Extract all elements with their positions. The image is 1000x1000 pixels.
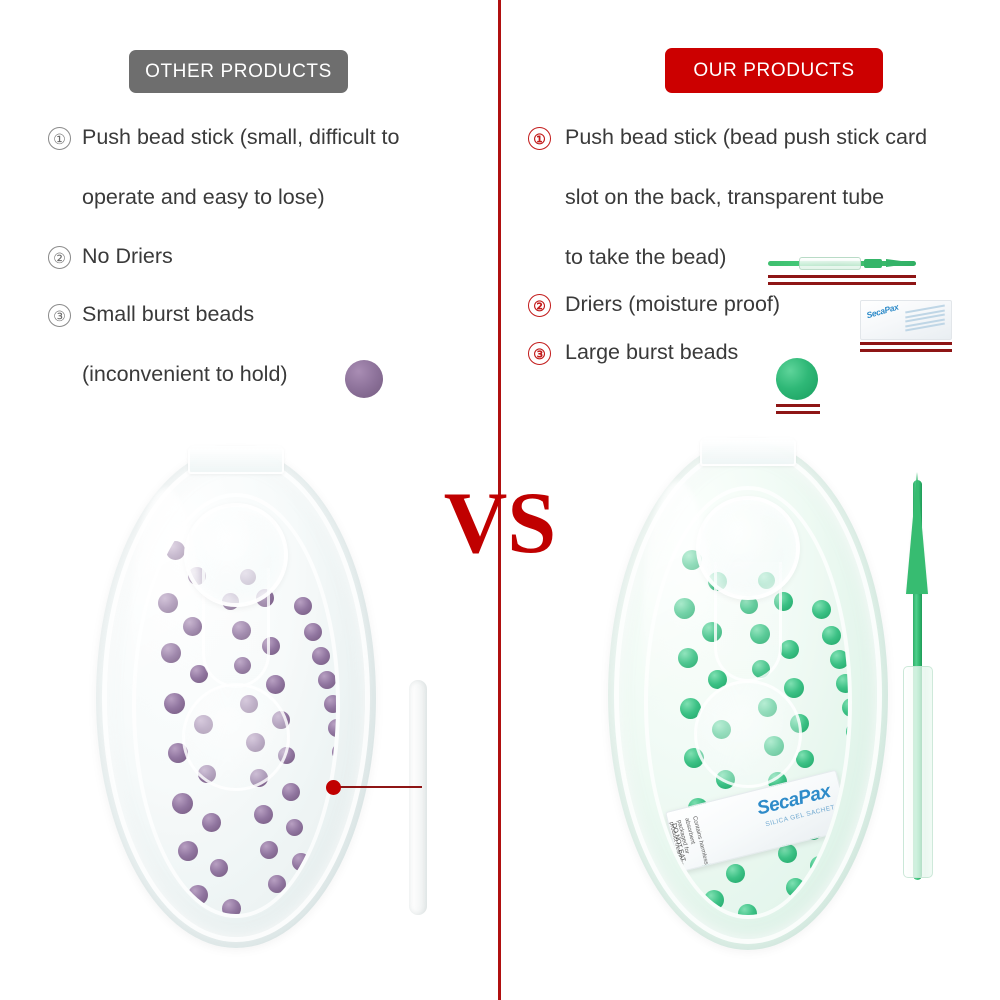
list-marker-2: ② <box>48 246 71 269</box>
bead <box>322 583 339 600</box>
case-body <box>96 448 376 948</box>
bead <box>780 640 799 659</box>
bead <box>286 819 303 836</box>
stick-tip <box>886 259 916 267</box>
large-green-burst-bead-thumbnail <box>776 358 820 416</box>
case-center-disc <box>182 683 290 791</box>
green-push-stick <box>900 480 934 880</box>
bead <box>188 885 208 905</box>
bead <box>310 905 328 918</box>
case-hinge <box>188 446 284 474</box>
bead <box>786 878 805 897</box>
bead <box>842 698 851 717</box>
bead <box>810 856 829 875</box>
bead <box>294 597 312 615</box>
double-underline <box>860 342 952 356</box>
bead <box>332 609 339 626</box>
bead <box>784 678 804 698</box>
list-marker-3: ③ <box>528 342 551 365</box>
bead <box>846 866 851 885</box>
bead <box>328 719 339 737</box>
bead <box>738 904 757 920</box>
bead <box>850 612 851 630</box>
bead <box>260 841 278 859</box>
bead <box>844 898 851 916</box>
list-item-text: Driers (moisture proof) <box>565 289 780 319</box>
bead <box>840 586 851 604</box>
bead <box>830 650 849 669</box>
white-push-stick <box>409 680 427 915</box>
small-purple-burst-bead-thumbnail <box>345 360 385 400</box>
list-item: ③ Small burst beads (inconvenient to hol… <box>48 299 468 389</box>
bead <box>332 743 339 761</box>
case-body: SecaPax SILICA GEL SACHET DO NOT EAT Con… <box>608 440 888 950</box>
bead <box>846 722 851 741</box>
bead <box>812 600 831 619</box>
bead <box>678 648 698 668</box>
green-bead-icon <box>776 358 818 400</box>
desiccant-sachet-thumbnail: SecaPax <box>860 300 952 352</box>
case-hinge <box>700 438 796 466</box>
bead <box>830 916 848 920</box>
bead <box>328 863 339 881</box>
bead <box>822 626 841 645</box>
stick-collar <box>864 259 882 268</box>
list-marker-1: ① <box>528 127 551 150</box>
bead <box>172 793 193 814</box>
list-item-text: No Driers <box>82 241 173 271</box>
case-center-disc <box>694 680 802 788</box>
bead <box>178 841 198 861</box>
bead <box>338 875 339 892</box>
case-dispenser-cap <box>184 503 288 607</box>
white-stick-body <box>409 680 427 915</box>
bead <box>161 643 181 663</box>
bead <box>222 899 241 918</box>
bead <box>164 693 185 714</box>
list-item-text: Small burst beads (inconvenient to hold) <box>82 299 288 389</box>
list-marker-3: ③ <box>48 304 71 327</box>
our-product-case: SecaPax SILICA GEL SACHET DO NOT EAT Con… <box>608 440 888 950</box>
bead <box>304 623 322 641</box>
sachet-text-lines <box>905 308 945 334</box>
bead <box>266 675 285 694</box>
bead <box>298 889 315 906</box>
list-marker-1: ① <box>48 127 71 150</box>
bead <box>210 859 228 877</box>
bead <box>268 875 286 893</box>
callout-dot <box>326 780 341 795</box>
bead <box>312 647 330 665</box>
comparison-infographic: OTHER PRODUCTS OUR PRODUCTS ① Push bead … <box>0 0 1000 1000</box>
double-underline <box>768 275 916 289</box>
list-item: ② No Driers <box>48 241 468 271</box>
our-products-label: OUR PRODUCTS <box>693 60 854 82</box>
callout-leader-line <box>338 786 422 788</box>
bead <box>326 895 339 912</box>
bead <box>850 746 851 765</box>
bead <box>796 750 814 768</box>
our-products-badge: OUR PRODUCTS <box>665 48 883 93</box>
case-dispenser-cap <box>696 496 800 600</box>
bead <box>674 598 695 619</box>
list-marker-2: ② <box>528 294 551 317</box>
bead <box>324 695 339 713</box>
bead <box>166 541 185 560</box>
bead <box>276 909 294 918</box>
stick-transparent-tube <box>799 257 861 270</box>
bead <box>816 892 834 910</box>
purple-bead-icon <box>345 360 383 398</box>
sachet-icon: SecaPax <box>860 300 952 340</box>
bead <box>726 864 745 883</box>
list-item: ① Push bead stick (bead push stick card … <box>528 122 988 272</box>
green-stick-transparent-tube <box>903 666 933 878</box>
bead <box>202 813 221 832</box>
other-product-case <box>96 448 376 948</box>
list-item: ① Push bead stick (small, difficult to o… <box>48 122 468 212</box>
vs-label: VS <box>440 480 560 568</box>
push-stick-icon <box>768 257 916 269</box>
bead <box>336 815 339 833</box>
bead <box>704 890 724 910</box>
green-stick-tip <box>906 472 928 594</box>
bead <box>158 593 178 613</box>
bead <box>183 617 202 636</box>
bead <box>334 839 339 857</box>
list-item-text: Push bead stick (small, difficult to ope… <box>82 122 399 212</box>
other-products-feature-list: ① Push bead stick (small, difficult to o… <box>48 122 468 389</box>
sachet-brand-label: SecaPax <box>865 302 899 321</box>
bead <box>254 805 273 824</box>
bead <box>292 853 310 871</box>
bead <box>282 783 300 801</box>
double-underline <box>776 404 820 418</box>
push-stick-thumbnail <box>768 249 916 287</box>
other-products-label: OTHER PRODUCTS <box>145 61 332 83</box>
list-item-text: Large burst beads <box>565 337 738 367</box>
other-products-badge: OTHER PRODUCTS <box>129 50 348 93</box>
bead <box>836 674 851 693</box>
bead <box>794 912 813 920</box>
bead <box>318 671 336 689</box>
